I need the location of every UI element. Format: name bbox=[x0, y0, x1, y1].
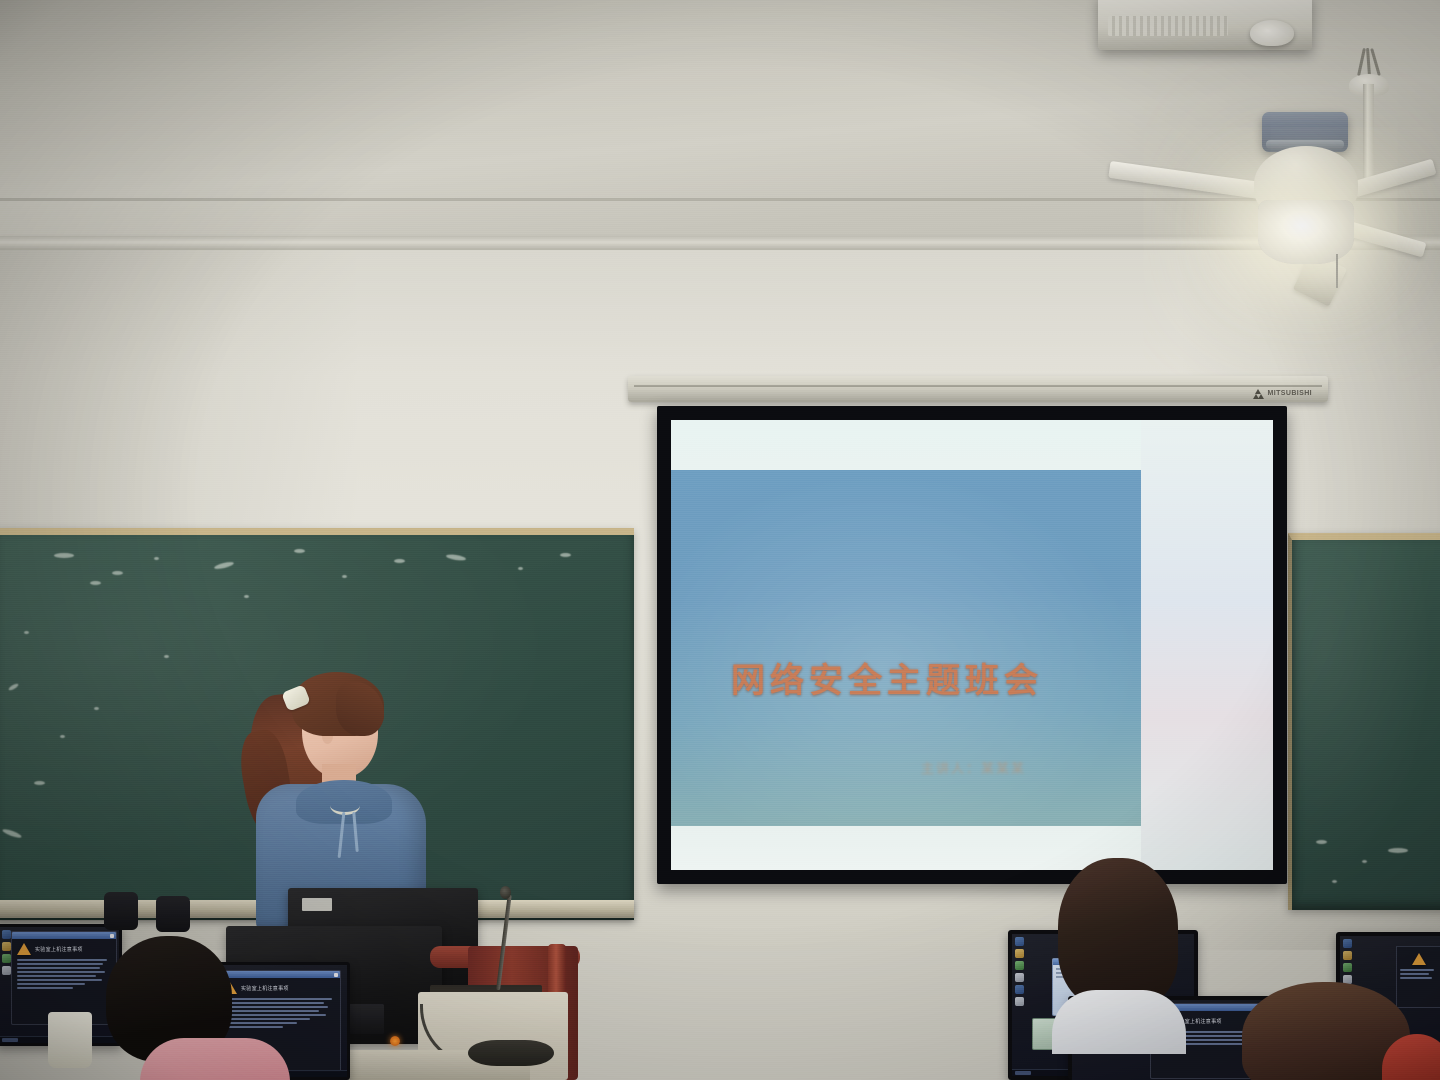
fan-downrod bbox=[1363, 84, 1374, 184]
water-cup bbox=[48, 1012, 92, 1068]
roller-seam bbox=[634, 385, 1322, 387]
projector-screen: 网络安全主题班会 主讲人：某某某 bbox=[657, 406, 1287, 884]
desktop-icon[interactable] bbox=[1015, 949, 1024, 958]
microphone-capsule-icon bbox=[500, 886, 511, 899]
student-right-front bbox=[1242, 982, 1432, 1080]
screen-brand: MITSUBISHI bbox=[1253, 389, 1312, 398]
warning-triangle-icon bbox=[17, 943, 31, 955]
mitsubishi-logo-icon bbox=[1253, 389, 1264, 398]
ceiling-projector bbox=[1098, 0, 1312, 50]
close-icon[interactable] bbox=[334, 973, 338, 977]
student-shoulders bbox=[1052, 990, 1186, 1054]
projector-screen-roller[interactable]: MITSUBISHI bbox=[628, 376, 1328, 402]
slide-title: 网络安全主题班会 bbox=[731, 653, 1043, 702]
student-front-left bbox=[96, 936, 246, 1080]
taskbar-start-icon[interactable] bbox=[2, 1038, 18, 1042]
desktop-icon[interactable] bbox=[2, 930, 11, 939]
chalkboard-right bbox=[1288, 533, 1440, 910]
desktop-icon[interactable] bbox=[1343, 963, 1352, 972]
student-right-back bbox=[1058, 858, 1198, 1038]
chair-headrest bbox=[156, 896, 190, 932]
student-shoulders bbox=[140, 1038, 290, 1080]
slide-subtitle: 主讲人：某某某 bbox=[921, 758, 1026, 777]
fan-pull-chain[interactable] bbox=[1336, 254, 1338, 288]
notice-heading: 实验室上机注意事项 bbox=[241, 985, 289, 992]
ceiling-beam bbox=[0, 236, 1440, 250]
screen-unlit-right-margin bbox=[1141, 420, 1273, 870]
chair-headrest bbox=[104, 892, 138, 930]
microphone-base[interactable] bbox=[468, 1040, 554, 1066]
warning-triangle-icon bbox=[1412, 953, 1426, 965]
student-hair bbox=[1058, 858, 1178, 1008]
notice-heading: 实验室上机注意事项 bbox=[35, 946, 83, 953]
presentation-slide: 网络安全主题班会 主讲人：某某某 bbox=[671, 470, 1141, 826]
desktop-icons[interactable] bbox=[1015, 937, 1024, 1006]
desktop-icon[interactable] bbox=[1343, 951, 1352, 960]
taskbar-start-icon[interactable] bbox=[1015, 1071, 1031, 1075]
ceiling-seam bbox=[0, 198, 1440, 201]
ceiling-light bbox=[1258, 200, 1354, 264]
desktop-icon[interactable] bbox=[2, 942, 11, 951]
notice-body bbox=[1397, 965, 1440, 983]
projector-lens bbox=[1250, 20, 1294, 46]
desktop-icon[interactable] bbox=[2, 954, 11, 963]
desktop-icon[interactable] bbox=[1015, 973, 1024, 982]
desktop-icon[interactable] bbox=[1343, 939, 1352, 948]
projection-surface: 网络安全主题班会 主讲人：某某某 bbox=[671, 420, 1273, 870]
power-led-icon bbox=[390, 1036, 400, 1046]
classroom-scene: MITSUBISHI 网络安全主题班会 主讲人：某某某 bbox=[0, 0, 1440, 1080]
desktop-icon[interactable] bbox=[1015, 985, 1024, 994]
desktop-icon[interactable] bbox=[2, 966, 11, 975]
screen-brand-label: MITSUBISHI bbox=[1268, 390, 1312, 397]
monitor-logo bbox=[302, 898, 332, 911]
slide-light-glow bbox=[671, 470, 1141, 826]
desktop-icon[interactable] bbox=[1015, 961, 1024, 970]
desktop-icons[interactable] bbox=[2, 930, 11, 975]
projector-vent bbox=[1108, 16, 1228, 36]
desktop-icon[interactable] bbox=[1015, 937, 1024, 946]
desktop-icon[interactable] bbox=[1015, 997, 1024, 1006]
